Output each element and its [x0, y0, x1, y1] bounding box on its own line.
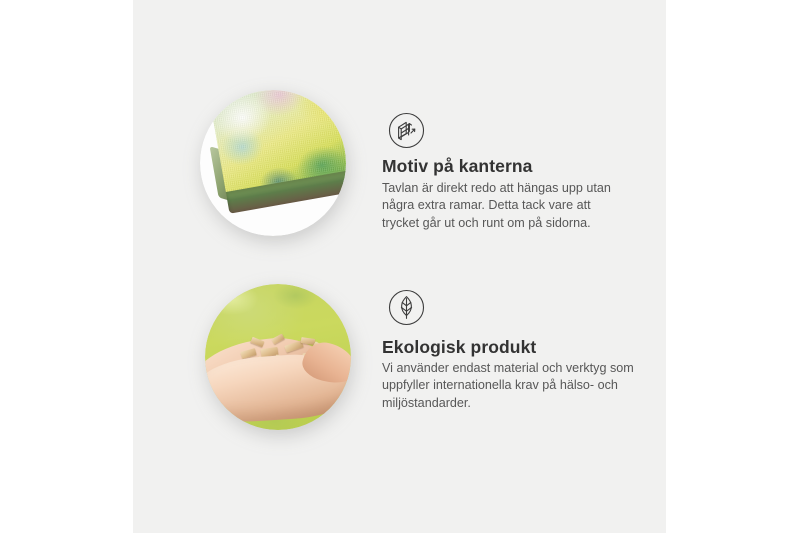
feature-body: Tavlan är direkt redo att hängas upp uta…	[382, 180, 652, 232]
leaf-icon	[388, 289, 425, 326]
content-panel	[133, 0, 666, 533]
feature-title: Ekologisk produkt	[382, 337, 536, 358]
feature-body: Vi använder endast material och verktyg …	[382, 360, 652, 412]
canvas-edge-print-icon	[388, 112, 425, 149]
feature-title: Motiv på kanterna	[382, 156, 532, 177]
hands-wood-chips-photo	[205, 284, 351, 430]
product-info-graphic: Motiv på kanterna Tavlan är direkt redo …	[0, 0, 800, 533]
canvas-corner-photo	[200, 90, 346, 236]
